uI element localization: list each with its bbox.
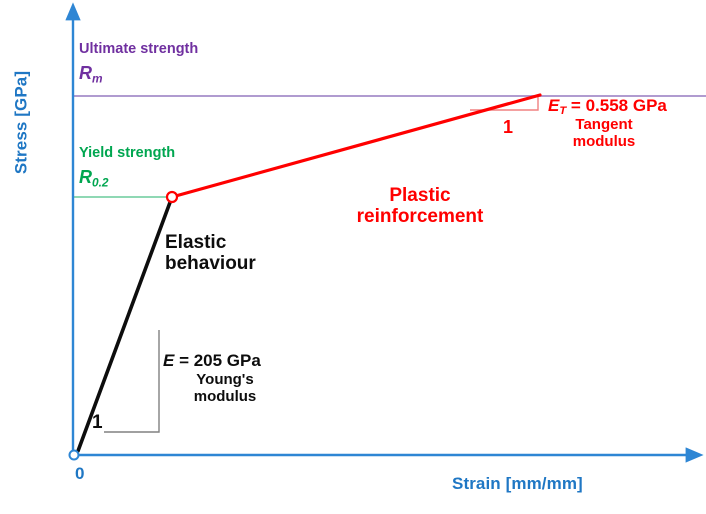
- youngs-modulus-name: Young's modulus: [176, 372, 274, 406]
- plastic-region-label: Plasticreinforcement: [330, 185, 510, 228]
- plastic-curve-segment: [172, 95, 540, 197]
- elastic-region-line1: Elastic: [165, 232, 226, 253]
- youngs-modulus-symbol: E: [163, 351, 174, 370]
- x-axis-title: Strain [mm/mm]: [452, 474, 583, 493]
- stress-strain-diagram: Stress [GPa] Strain [mm/mm] 0 Ultimate s…: [0, 0, 706, 514]
- youngs-modulus-equation: E = 205 GPa: [163, 351, 261, 370]
- elastic-region-line2: behaviour: [165, 253, 256, 274]
- elastic-run-label: 1: [92, 412, 103, 433]
- ultimate-strength-label: Ultimate strength: [79, 41, 198, 57]
- chart-canvas: [0, 0, 706, 514]
- elastic-slope-triangle: [104, 330, 159, 432]
- tangent-modulus-value-text: = 0.558 GPa: [566, 96, 667, 115]
- tangent-modulus-name: Tangent modulus: [556, 117, 652, 151]
- ultimate-strength-symbol: Rm: [79, 63, 103, 86]
- y-axis-title: Stress [GPa]: [11, 38, 30, 208]
- yield-point-marker: [167, 192, 177, 202]
- rm-base: R: [79, 63, 92, 83]
- tangent-modulus-equation: ET = 0.558 GPa: [548, 96, 667, 118]
- youngs-modulus-value-text: = 205 GPa: [174, 351, 260, 370]
- rm-subscript: m: [92, 71, 103, 85]
- r02-subscript: 0.2: [92, 175, 109, 189]
- tangent-modulus-symbol: E: [548, 96, 559, 115]
- origin-label: 0: [75, 464, 84, 483]
- r02-base: R: [79, 167, 92, 187]
- tangent-run-label: 1: [503, 117, 513, 137]
- plastic-region-line2: reinforcement: [357, 206, 484, 227]
- yield-strength-symbol: R0.2: [79, 167, 109, 190]
- elastic-region-label: Elasticbehaviour: [165, 232, 256, 275]
- plastic-region-line1: Plastic: [389, 185, 450, 206]
- origin-point-marker: [70, 451, 79, 460]
- yield-strength-label: Yield strength: [79, 145, 175, 161]
